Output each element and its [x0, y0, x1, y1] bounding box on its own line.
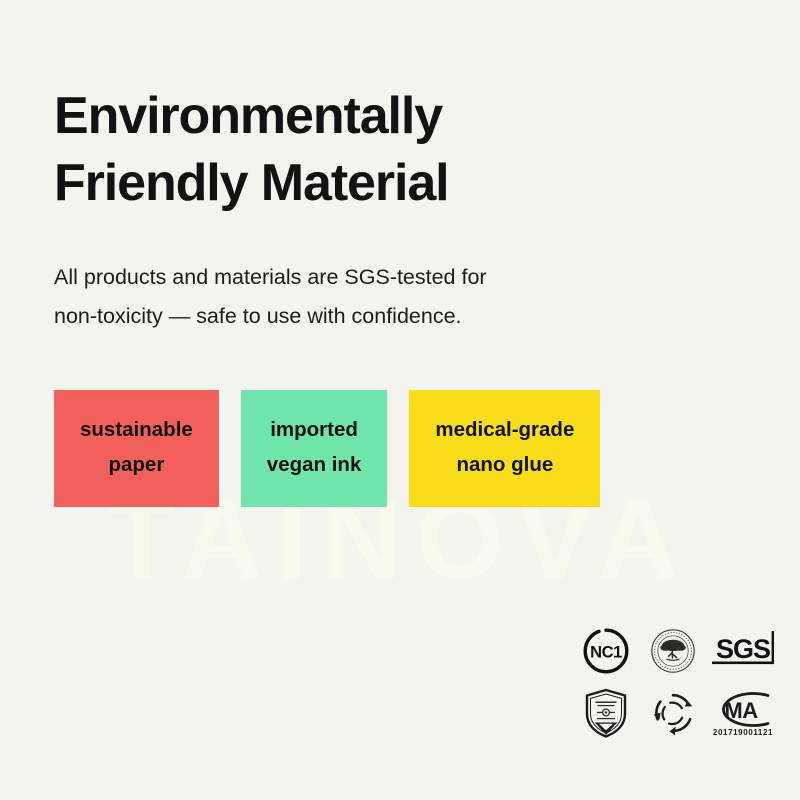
sgs-wordmark: SGS [716, 634, 770, 664]
material-chip-imported-vegan-ink: imported vegan ink [241, 390, 388, 507]
nc1-certification-icon: NC1 [572, 620, 639, 682]
svg-text:NC1: NC1 [590, 644, 622, 662]
shield-certification-icon [572, 682, 639, 744]
page-subtitle-line-1: All products and materials are SGS-teste… [54, 258, 674, 297]
page-title-line-1: Environmentally [54, 83, 694, 151]
page-title-line-2: Friendly Material [54, 150, 694, 218]
sgs-logo-icon: SGS [706, 620, 780, 682]
material-chip-group: sustainable paper imported vegan ink med… [54, 390, 600, 507]
page-subtitle-line-2: non-toxicity — safe to use with confiden… [54, 297, 674, 336]
cma-wordmark: MA [724, 698, 758, 723]
chip-label-line-1: sustainable [80, 412, 193, 447]
tree-seal-icon [639, 620, 706, 682]
chip-label-line-2: nano glue [435, 447, 574, 482]
recycle-arrows-icon [639, 682, 706, 744]
material-chip-medical-grade-nano-glue: medical-grade nano glue [409, 390, 600, 507]
certification-badge-grid: NC1 SGS [572, 620, 780, 744]
chip-label-line-1: imported [267, 412, 362, 447]
poster-canvas: TAINOVA Environmentally Friendly Materia… [0, 0, 800, 800]
chip-label-line-2: paper [80, 447, 193, 482]
material-chip-sustainable-paper: sustainable paper [54, 390, 219, 507]
cma-certification-icon: MA 201719001121 [706, 682, 780, 744]
page-subtitle: All products and materials are SGS-teste… [54, 258, 674, 336]
cma-certificate-number: 201719001121 [713, 728, 773, 737]
chip-label-line-1: medical-grade [435, 412, 574, 447]
page-title: Environmentally Friendly Material [54, 83, 694, 218]
chip-label-line-2: vegan ink [267, 447, 362, 482]
